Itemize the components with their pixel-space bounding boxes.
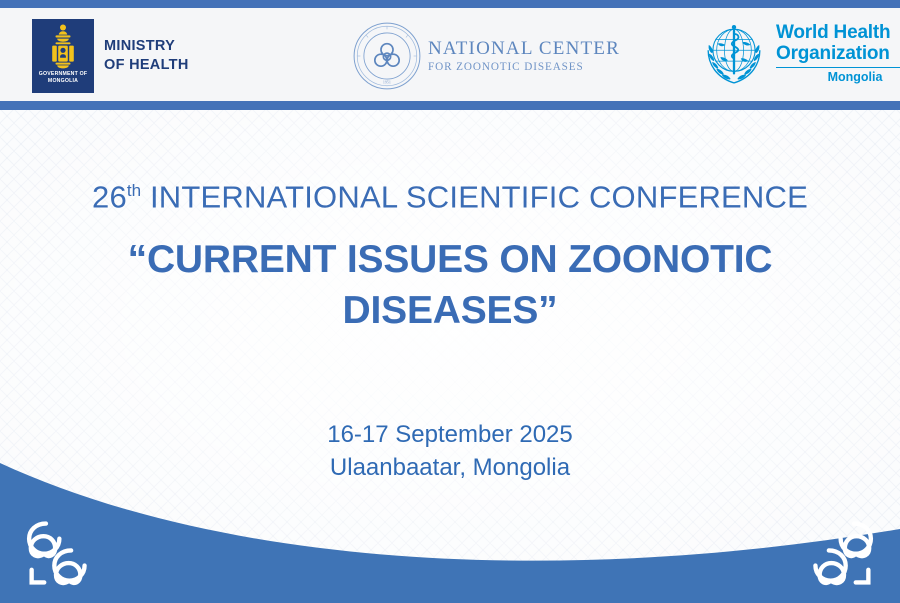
moh-crest-line1: GOVERNMENT OF: [39, 71, 87, 78]
conference-heading-text: INTERNATIONAL SCIENTIFIC CONFERENCE: [141, 179, 808, 214]
ministry-of-health-logo: GOVERNMENT OF MONGOLIA MINISTRY OF HEALT…: [32, 19, 189, 93]
who-country-label: Mongolia: [776, 70, 900, 84]
who-line2: Organization: [776, 43, 900, 64]
biohazard-seal-icon: 1951: [352, 21, 422, 91]
mongolian-ulzii-knot-icon: [802, 511, 886, 595]
who-line1: World Health: [776, 22, 900, 43]
conference-title-slide: GOVERNMENT OF MONGOLIA MINISTRY OF HEALT…: [0, 0, 900, 603]
moh-wordmark-line1: MINISTRY: [104, 37, 189, 56]
title-text-block: 26th INTERNATIONAL SCIENTIFIC CONFERENCE…: [0, 110, 900, 484]
who-un-laurel-asclepius-icon: [700, 19, 768, 87]
mongolia-soyombo-icon: GOVERNMENT OF MONGOLIA: [32, 19, 94, 93]
who-wordmark: World Health Organization Mongolia: [776, 22, 900, 85]
seal-year: 1951: [383, 80, 391, 84]
nczd-subtitle: FOR ZOONOTIC DISEASES: [428, 60, 620, 74]
national-center-zoonotic-diseases-logo: 1951 NATIONAL CENTER FOR ZOONOTIC DISEAS…: [352, 21, 620, 91]
moh-wordmark: MINISTRY OF HEALTH: [104, 37, 189, 75]
wave-divider-icon: [0, 443, 900, 603]
conference-heading: 26th INTERNATIONAL SCIENTIFIC CONFERENCE: [0, 172, 900, 216]
header-divider-bar: [0, 101, 900, 110]
top-accent-bar: [0, 0, 900, 8]
conference-ordinal: th: [127, 181, 141, 200]
conference-theme: “CURRENT ISSUES ON ZOONOTIC DISEASES”: [0, 234, 900, 336]
nczd-wordmark: NATIONAL CENTER FOR ZOONOTIC DISEASES: [428, 38, 620, 74]
world-health-organization-logo: World Health Organization Mongolia: [700, 19, 900, 87]
moh-wordmark-line2: OF HEALTH: [104, 56, 189, 75]
who-divider: [776, 67, 900, 69]
conference-number: 26: [92, 179, 127, 214]
mongolian-ulzii-knot-icon: [14, 511, 98, 595]
nczd-name: NATIONAL CENTER: [428, 38, 620, 60]
moh-crest-line2: MONGOLIA: [48, 78, 78, 85]
